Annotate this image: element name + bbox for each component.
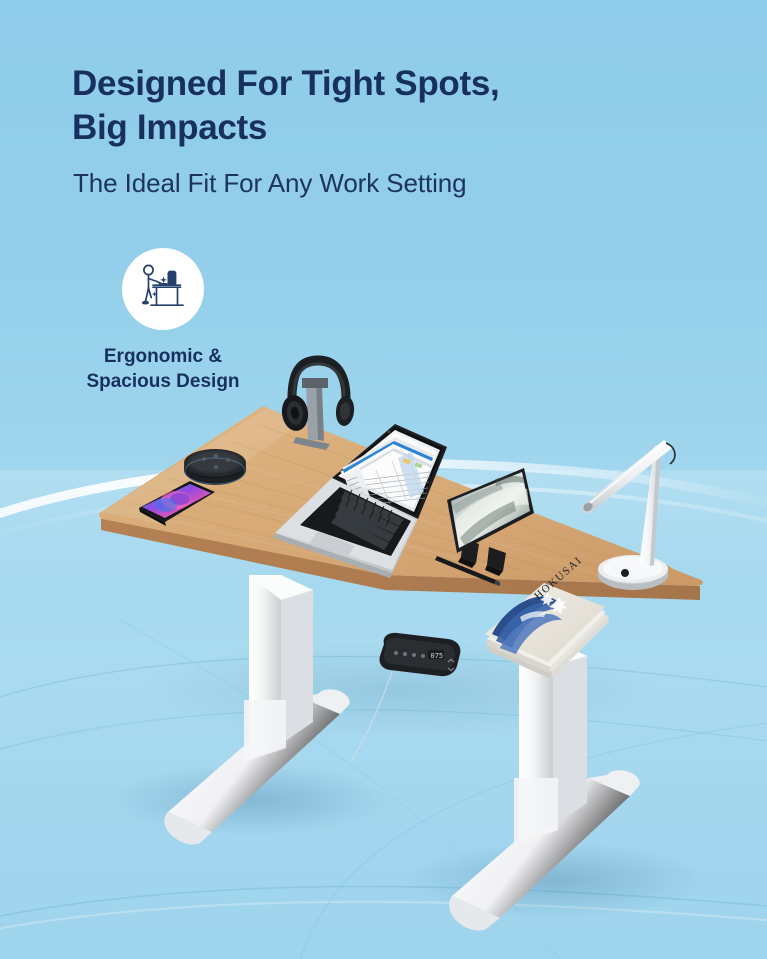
control-panel-display: 075 <box>431 652 444 660</box>
product-banner: Designed For Tight Spots, Big Impacts Th… <box>0 0 767 959</box>
product-scene: 075 <box>0 0 767 959</box>
standing-desk-illustration: 075 <box>0 0 767 959</box>
smart-speaker <box>184 449 246 485</box>
